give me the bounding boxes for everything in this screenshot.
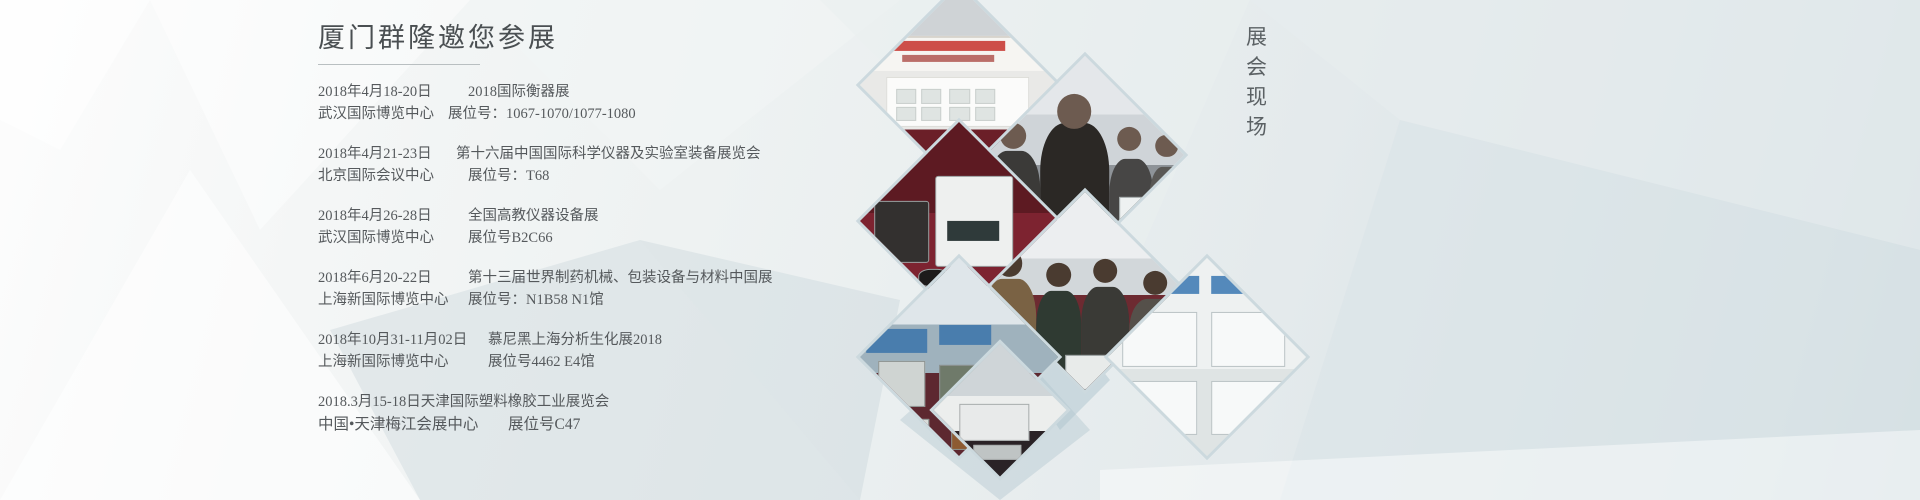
entry-booth: 展位号4462 E4馆 xyxy=(458,352,595,374)
banner-title-bar xyxy=(881,41,1005,51)
entry-date: 2018年4月18-20日 xyxy=(318,82,438,104)
vertical-label-char: 现 xyxy=(1242,82,1276,112)
entry-date: 2018.3月15-18日天津国际塑料橡胶工业展览会 xyxy=(318,392,609,414)
entry-venue: 中国•天津梅江会展中心 xyxy=(318,414,508,436)
entry-exhibition: 慕尼黑上海分析生化展2018 xyxy=(478,330,662,352)
entry-date: 2018年10月31-11月02日 xyxy=(318,330,478,352)
vertical-section-label: 展 会 现 场 xyxy=(1242,22,1276,142)
entry-venue: 上海新国际博览中心 xyxy=(318,290,458,312)
banner-stage: 厦门群隆邀您参展 2018年4月18-20日 2018国际衡器展 武汉国际博览中… xyxy=(0,0,1920,500)
entry-booth: 展位号B2C66 xyxy=(438,228,553,250)
entry-venue: 北京国际会议中心 xyxy=(318,166,438,188)
vertical-label-char: 场 xyxy=(1242,112,1276,142)
entry-exhibition: 2018国际衡器展 xyxy=(438,82,570,104)
entry-date: 2018年6月20-22日 xyxy=(318,268,438,290)
entry-exhibition: 全国高教仪器设备展 xyxy=(438,206,599,228)
entry-exhibition: 第十三届世界制药机械、包装设备与材料中国展 xyxy=(438,268,773,290)
entry-venue: 武汉国际博览中心 xyxy=(318,104,438,126)
entry-exhibition: 第十六届中国国际科学仪器及实验室装备展览会 xyxy=(438,144,761,166)
entry-date: 2018年4月21-23日 xyxy=(318,144,438,166)
entry-booth: 展位号C47 xyxy=(508,414,580,436)
vertical-label-char: 展 xyxy=(1242,22,1276,52)
booth-banner xyxy=(870,37,1047,71)
entry-venue: 上海新国际博览中心 xyxy=(318,352,458,374)
entry-booth: 展位号：1067-1070/1077-1080 xyxy=(438,104,636,126)
photo-collage xyxy=(830,0,1210,500)
banner-subtitle-bar xyxy=(902,55,994,62)
title-divider xyxy=(318,64,480,65)
entry-date: 2018年4月26-28日 xyxy=(318,206,438,228)
entry-booth: 展位号：T68 xyxy=(438,166,549,188)
entry-booth: 展位号：N1B58 N1馆 xyxy=(458,290,604,312)
vertical-label-char: 会 xyxy=(1242,52,1276,82)
entry-venue: 武汉国际博览中心 xyxy=(318,228,438,250)
